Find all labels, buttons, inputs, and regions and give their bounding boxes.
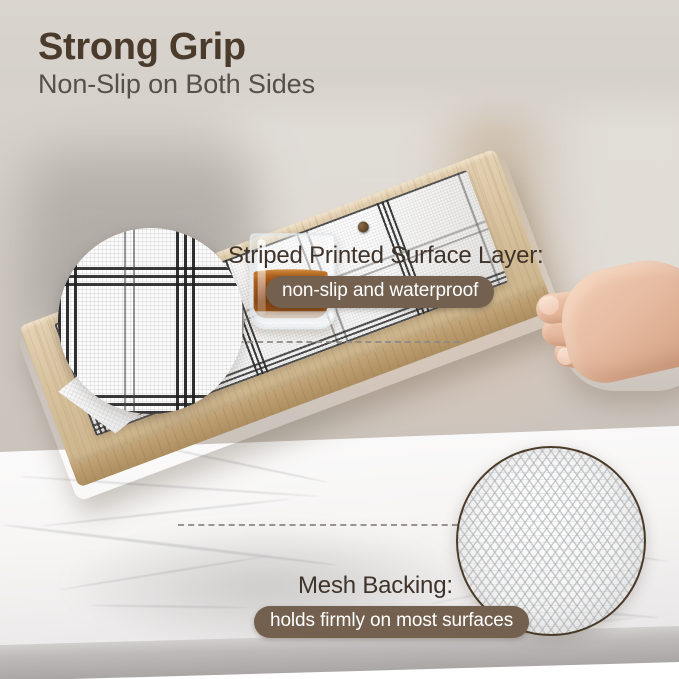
- product-infographic: Strong Grip Non-Slip on Both Sides Strip…: [0, 0, 679, 679]
- page-subtitle: Non-Slip on Both Sides: [38, 70, 315, 100]
- hand-gripping-board: [520, 253, 679, 413]
- callout-title: Striped Printed Surface Layer:: [228, 242, 544, 270]
- callout-surface-layer: Striped Printed Surface Layer: non-slip …: [228, 242, 544, 308]
- leader-line-mesh-backing: [178, 524, 468, 526]
- page-title: Strong Grip: [38, 28, 246, 66]
- callout-title: Mesh Backing:: [298, 572, 529, 600]
- plaid-secondary-stripes: [124, 228, 244, 414]
- callout-mesh-backing: Mesh Backing: holds firmly on most surfa…: [298, 572, 529, 638]
- callout-badge: holds firmly on most surfaces: [254, 606, 529, 638]
- callout-badge: non-slip and waterproof: [266, 276, 494, 308]
- plaid-fabric-closeup-icon: [58, 228, 244, 414]
